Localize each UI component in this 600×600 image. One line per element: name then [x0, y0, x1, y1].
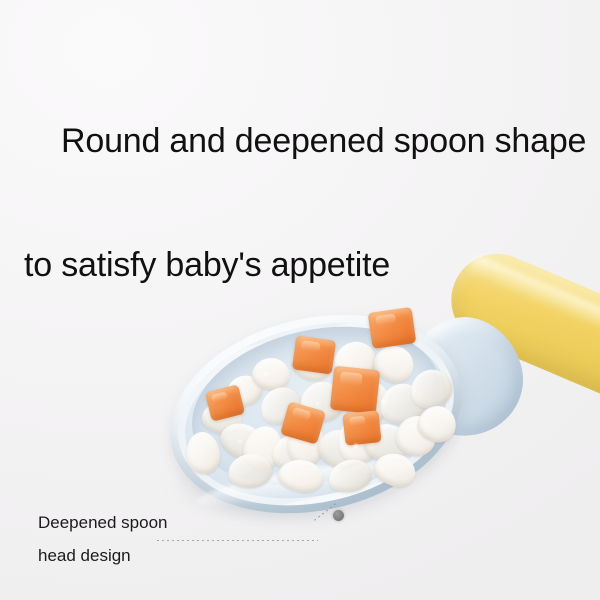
- food-sparkle: [412, 424, 415, 427]
- headline-line-1: Round and deepened spoon shape: [61, 122, 586, 160]
- page-title: Round and deepened spoon shape to satisf…: [24, 48, 580, 420]
- headline-line-2: to satisfy baby's appetite: [24, 234, 580, 296]
- rice-grain: [183, 430, 223, 476]
- annotation-caption: Deepened spoon head design: [38, 506, 168, 572]
- annotation-marker-dot: [333, 510, 344, 521]
- food-sparkle: [238, 440, 241, 443]
- caption-line-2: head design: [38, 539, 168, 572]
- caption-line-1: Deepened spoon: [38, 506, 168, 539]
- product-promo-image: Round and deepened spoon shape to satisf…: [0, 0, 600, 600]
- leader-line-horizontal: [157, 539, 318, 541]
- food-sparkle: [354, 444, 358, 448]
